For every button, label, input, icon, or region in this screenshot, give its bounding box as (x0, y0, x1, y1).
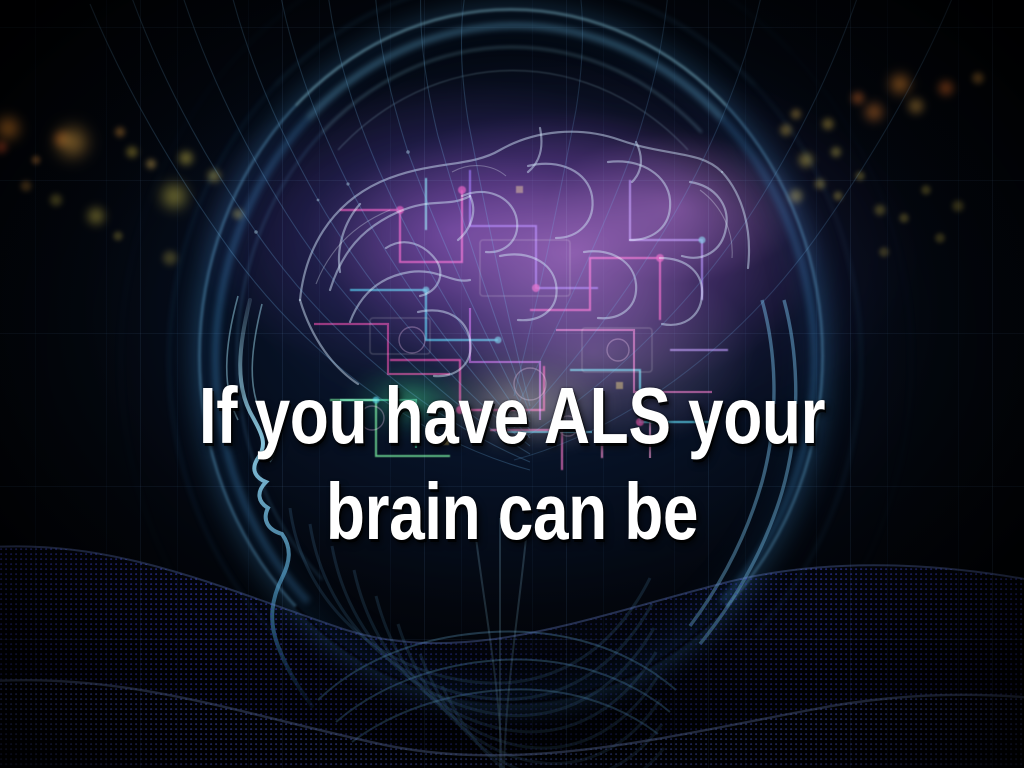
caption-line-1: If you have ALS your brain can be (117, 368, 907, 560)
bokeh-light (0, 138, 10, 156)
bokeh-light (30, 154, 42, 166)
bokeh-light (19, 179, 33, 193)
caption-text-block: If you have ALS your brain can be affect… (102, 176, 921, 768)
caption-line-2: affected but not for all. If your brain … (117, 752, 907, 768)
slide-canvas: If you have ALS your brain can be affect… (0, 0, 1024, 768)
bokeh-light (0, 111, 25, 145)
